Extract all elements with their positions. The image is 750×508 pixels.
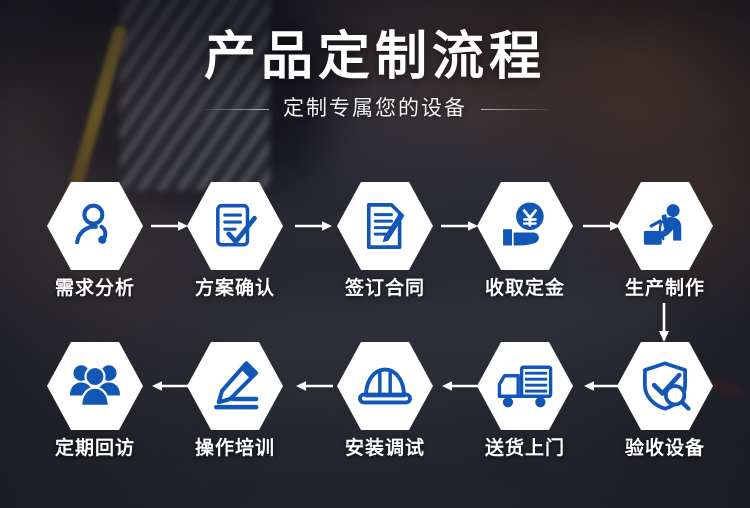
page-subtitle: 定制专属您的设备 [283, 96, 467, 122]
flow-step-production[interactable]: 生产制作 [610, 182, 720, 301]
hexagon-badge [337, 182, 433, 270]
flow-step-label: 定期回访 [40, 437, 150, 461]
flow-step-plan-confirmation[interactable]: 方案确认 [180, 182, 290, 301]
flow-step-installation-debugging[interactable]: 安装调试 [330, 342, 440, 461]
shield-check-magnifier-icon [638, 360, 692, 412]
hexagon-badge [337, 342, 433, 430]
flow-step-requirement-analysis[interactable]: 需求分析 [40, 182, 150, 301]
flow-step-label: 送货上门 [470, 437, 580, 461]
hexagon-badge [477, 342, 573, 430]
hexagon-badge [617, 182, 713, 270]
subtitle-rule-right [481, 109, 549, 110]
subtitle-row: 定制专属您的设备 [0, 96, 750, 122]
flow-step-label: 需求分析 [40, 277, 150, 301]
subtitle-rule-left [201, 109, 269, 110]
flow-step-label: 收取定金 [470, 277, 580, 301]
flow-step-operation-training[interactable]: 操作培训 [180, 342, 290, 461]
flow-step-regular-followup[interactable]: 定期回访 [40, 342, 150, 461]
document-check-icon [210, 200, 260, 252]
arrow-right-icon-3 [440, 218, 480, 234]
page-title: 产品定制流程 [0, 26, 750, 88]
arrow-left-icon-1 [150, 378, 190, 394]
flow-step-label: 生产制作 [610, 277, 720, 301]
flow-step-door-delivery[interactable]: 送货上门 [470, 342, 580, 461]
flow-step-sign-contract[interactable]: 签订合同 [330, 182, 440, 301]
arrow-left-icon-3 [440, 378, 480, 394]
product-customization-flow-banner: 产品定制流程 定制专属您的设备 需求分析 [0, 0, 750, 508]
hexagon-badge [47, 182, 143, 270]
delivery-truck-icon [496, 362, 554, 410]
people-group-icon [67, 361, 123, 411]
flow-step-label: 签订合同 [330, 277, 440, 301]
flow-row-top: 需求分析 方案确认 [0, 182, 750, 312]
hard-hat-icon [357, 361, 413, 411]
banner-header: 产品定制流程 定制专属您的设备 [0, 26, 750, 122]
arrow-right-icon-1 [150, 218, 190, 234]
flow-row-bottom: 定期回访 操作培训 [0, 342, 750, 472]
flow-step-label: 验收设备 [610, 437, 720, 461]
pencil-writing-icon [209, 360, 261, 412]
arrow-right-icon-2 [294, 218, 334, 234]
arrow-right-icon-4 [582, 218, 622, 234]
hexagon-badge [47, 342, 143, 430]
flow-step-collect-deposit[interactable]: 收取定金 [470, 182, 580, 301]
flow-step-label: 操作培训 [180, 437, 290, 461]
worker-welding-icon [638, 200, 692, 252]
hand-yen-coin-icon [498, 200, 552, 252]
arrow-left-icon-4 [582, 378, 622, 394]
contract-pen-icon [359, 200, 411, 252]
customer-service-person-icon [69, 200, 121, 252]
arrow-down-icon [655, 302, 673, 344]
arrow-left-icon-2 [294, 378, 334, 394]
hexagon-badge [617, 342, 713, 430]
flow-step-label: 方案确认 [180, 277, 290, 301]
flow-step-equipment-acceptance[interactable]: 验收设备 [610, 342, 720, 461]
hexagon-badge [187, 342, 283, 430]
flow-step-label: 安装调试 [330, 437, 440, 461]
hexagon-badge [187, 182, 283, 270]
hexagon-badge [477, 182, 573, 270]
